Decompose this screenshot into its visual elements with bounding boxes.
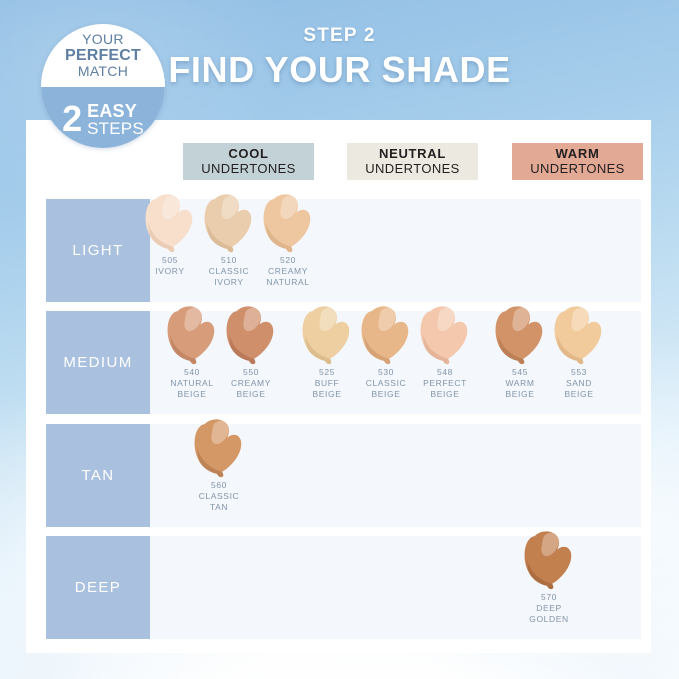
shade-name: PERFECTBEIGE [407, 378, 483, 400]
undertone-name: NEUTRAL [379, 147, 446, 161]
shade-caption: 553SANDBEIGE [541, 367, 617, 401]
shade-row-light: LIGHT [46, 199, 641, 302]
badge-line-3: MATCH [78, 64, 128, 79]
shade-swatch[interactable]: 548PERFECTBEIGE [413, 311, 477, 414]
shade-caption: 550CREAMYBEIGE [213, 367, 289, 401]
shade-code: 560 [181, 480, 257, 491]
shade-swatch[interactable]: 520CREAMYNATURAL [256, 199, 320, 302]
foundation-blob-icon [492, 305, 548, 367]
badge-steps-words: EASY STEPS [87, 102, 144, 137]
foundation-blob-icon [223, 305, 279, 367]
shade-swatch[interactable]: 550CREAMYBEIGE [219, 311, 283, 414]
shade-caption: 560CLASSICTAN [181, 480, 257, 514]
undertone-header-cool: COOL UNDERTONES [183, 143, 314, 180]
shade-code: 550 [213, 367, 289, 378]
badge-step-number: 2 [62, 103, 82, 135]
undertone-header-warm: WARM UNDERTONES [512, 143, 643, 180]
foundation-blob-icon [551, 305, 607, 367]
foundation-blob-icon [164, 305, 220, 367]
shade-name: DEEPGOLDEN [511, 603, 587, 625]
foundation-blob-icon [417, 305, 473, 367]
undertone-header-neutral: NEUTRAL UNDERTONES [347, 143, 478, 180]
undertone-sublabel: UNDERTONES [201, 162, 296, 176]
shade-swatch[interactable]: 560CLASSICTAN [187, 424, 251, 527]
foundation-blob-icon [521, 530, 577, 592]
shade-name: SANDBEIGE [541, 378, 617, 400]
undertone-name: COOL [228, 147, 268, 161]
shade-name: CREAMYBEIGE [213, 378, 289, 400]
badge-top-text: YOUR PERFECT MATCH [41, 24, 165, 87]
foundation-blob-icon [191, 418, 247, 480]
shade-code: 570 [511, 592, 587, 603]
badge-line-2: PERFECT [65, 47, 141, 64]
shade-caption: 548PERFECTBEIGE [407, 367, 483, 401]
shade-name: CLASSICTAN [181, 491, 257, 513]
shade-swatch[interactable]: 553SANDBEIGE [547, 311, 611, 414]
undertone-name: WARM [556, 147, 600, 161]
shade-code: 520 [250, 255, 326, 266]
shade-row-tan: TAN [46, 424, 641, 527]
shade-swatch[interactable]: 570DEEPGOLDEN [517, 536, 581, 639]
shade-name: CREAMYNATURAL [250, 266, 326, 288]
perfect-match-badge: YOUR PERFECT MATCH 2 EASY STEPS [41, 24, 165, 148]
undertone-sublabel: UNDERTONES [365, 162, 460, 176]
badge-bottom-banner: 2 EASY STEPS [41, 87, 165, 148]
row-label: DEEP [46, 536, 150, 639]
row-label: MEDIUM [46, 311, 150, 414]
foundation-blob-icon [299, 305, 355, 367]
shade-caption: 520CREAMYNATURAL [250, 255, 326, 289]
foundation-blob-icon [201, 193, 257, 255]
foundation-blob-icon [260, 193, 316, 255]
row-label: TAN [46, 424, 150, 527]
shade-finder-poster: STEP 2 FIND YOUR SHADE YOUR PERFECT MATC… [0, 0, 679, 679]
shade-code: 553 [541, 367, 617, 378]
badge-word-easy: EASY [87, 102, 144, 120]
row-label: LIGHT [46, 199, 150, 302]
shade-caption: 570DEEPGOLDEN [511, 592, 587, 626]
foundation-blob-icon [142, 193, 198, 255]
badge-line-1: YOUR [82, 32, 124, 47]
undertone-sublabel: UNDERTONES [530, 162, 625, 176]
badge-word-steps: STEPS [87, 120, 144, 137]
foundation-blob-icon [358, 305, 414, 367]
shade-code: 548 [407, 367, 483, 378]
